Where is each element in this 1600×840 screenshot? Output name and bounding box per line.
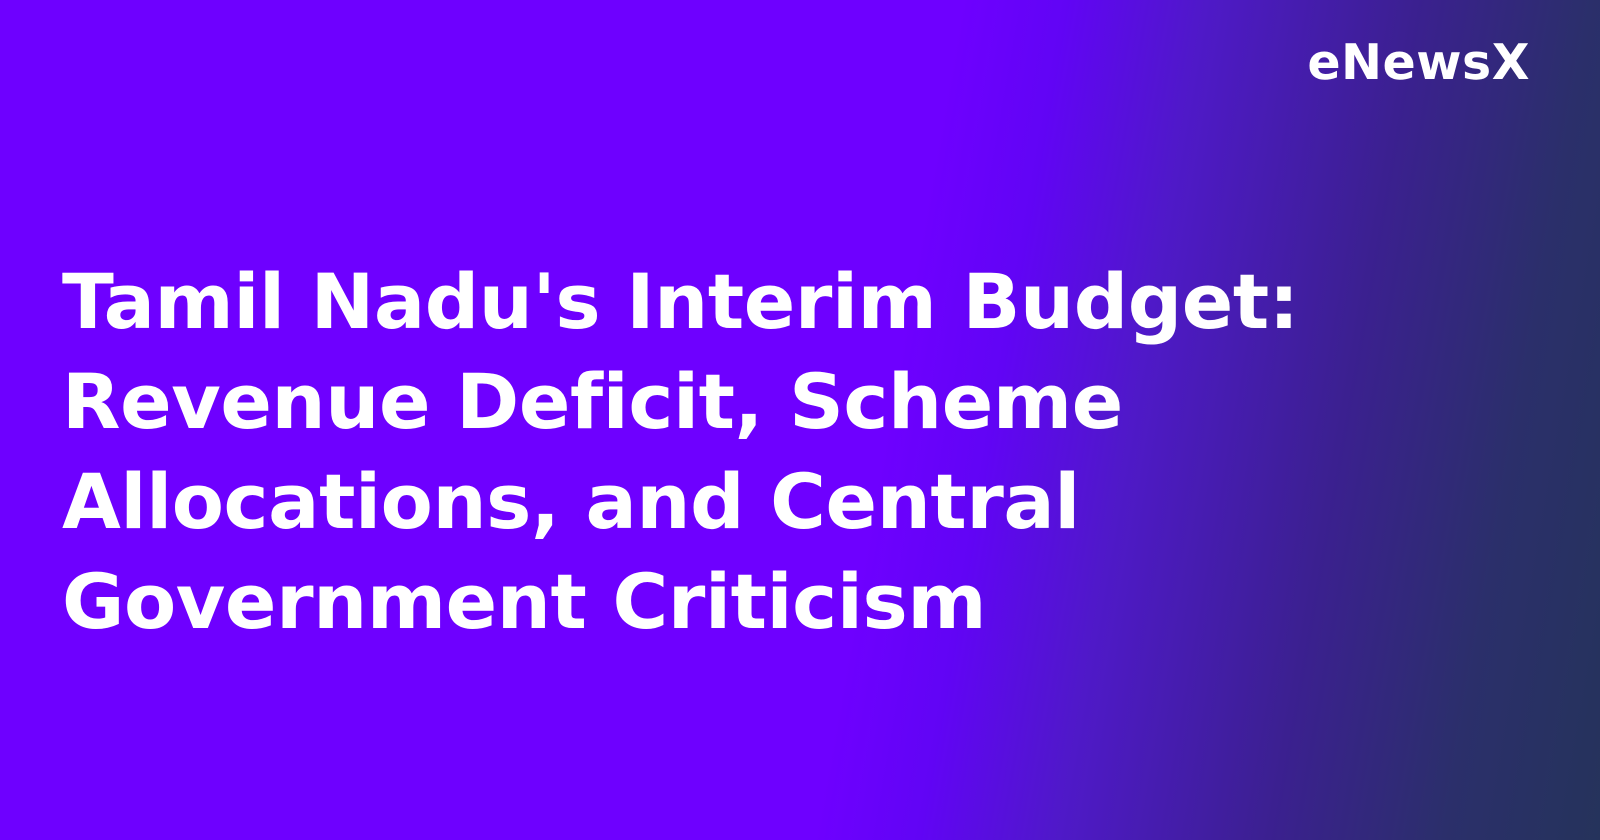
headline-container: Tamil Nadu's Interim Budget: Revenue Def…	[62, 252, 1460, 652]
enewsx-logo[interactable]: eNewsX	[1307, 38, 1530, 87]
article-hero-card: eNewsX Tamil Nadu's Interim Budget: Reve…	[0, 0, 1600, 840]
article-headline: Tamil Nadu's Interim Budget: Revenue Def…	[62, 252, 1460, 652]
brand-bar: eNewsX	[0, 30, 1530, 94]
